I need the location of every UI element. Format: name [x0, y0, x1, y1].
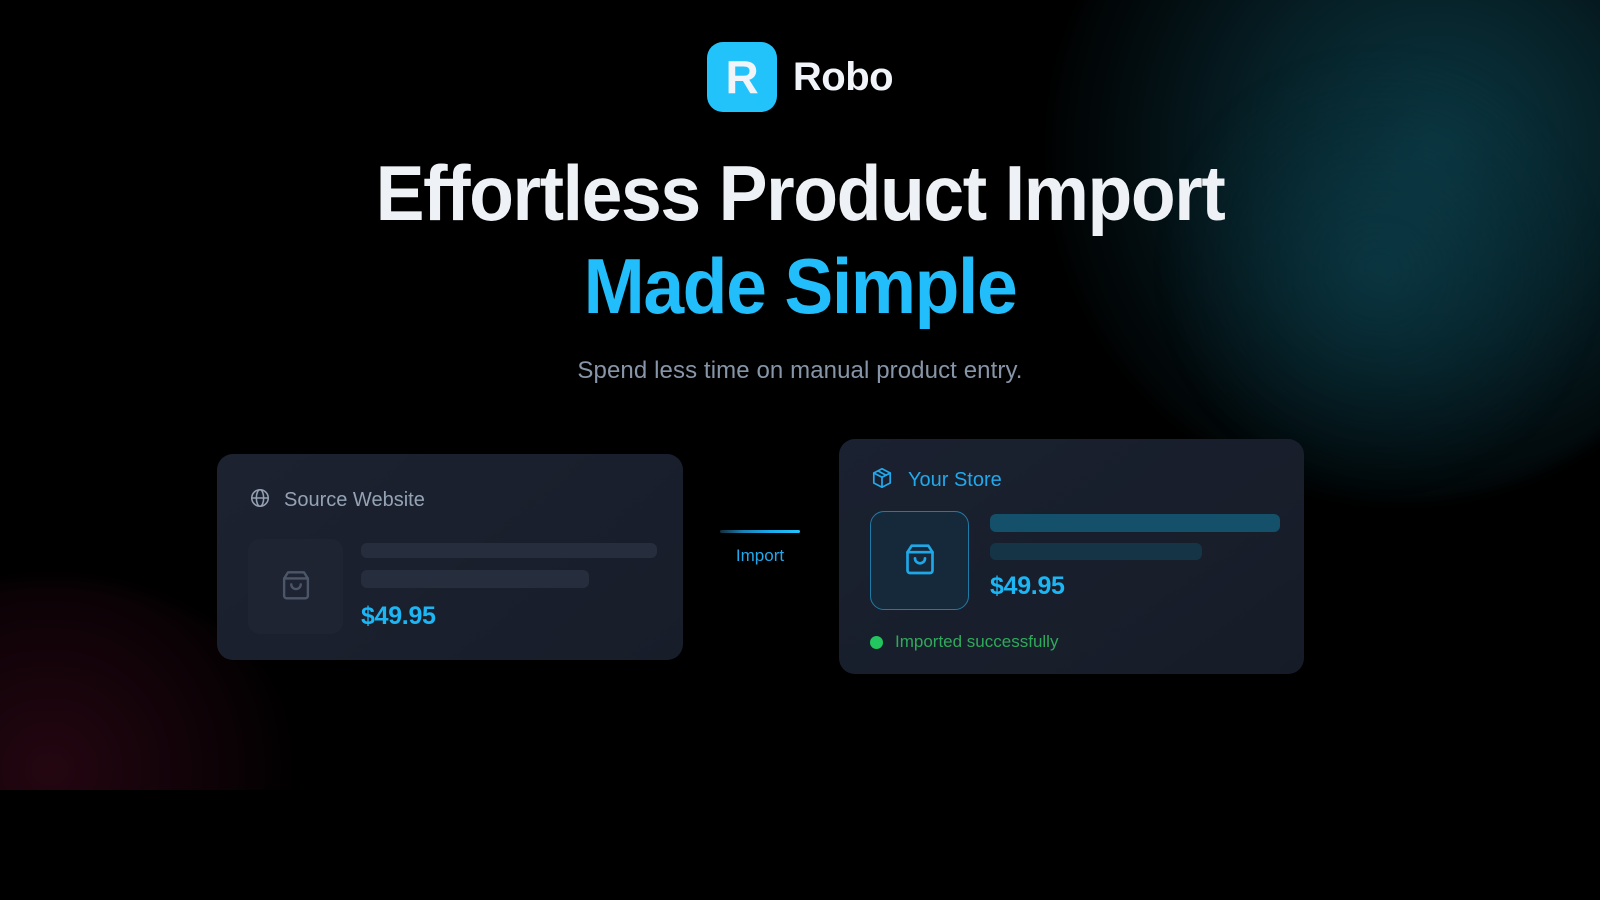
shopping-bag-icon: [277, 565, 315, 608]
source-card-header: Source Website: [249, 487, 425, 514]
headline-line-accent: Made Simple: [48, 245, 1552, 328]
import-connector-line: [720, 530, 800, 533]
hero-headline: Effortless Product Import Made Simple: [0, 152, 1600, 327]
store-skeleton-bar-title: [990, 514, 1280, 532]
source-card-title: Source Website: [284, 489, 425, 512]
globe-icon: [249, 487, 271, 514]
source-product-thumbnail: [248, 539, 343, 634]
brand-name: Robo: [793, 55, 893, 100]
source-skeleton-bar-subtitle: [361, 570, 589, 588]
store-card-header: Your Store: [870, 466, 1002, 495]
import-status-text: Imported successfully: [895, 632, 1058, 652]
source-card-body: $49.95: [248, 539, 657, 634]
hero-subtitle: Spend less time on manual product entry.: [0, 357, 1600, 385]
status-dot-icon: [870, 636, 883, 649]
store-product-price: $49.95: [990, 572, 1280, 601]
robo-logo-icon: R: [707, 42, 777, 112]
import-connector-label: Import: [700, 546, 820, 566]
brand-header: R Robo: [0, 42, 1600, 112]
import-demo: Source Website $49.95: [0, 430, 1600, 690]
import-connector: Import: [700, 530, 820, 566]
shopping-bag-icon: [900, 538, 940, 583]
brand-mark-letter: R: [726, 54, 759, 100]
background-bottom-mask: [0, 790, 1600, 900]
store-product-details: $49.95: [990, 511, 1280, 610]
headline-line-primary: Effortless Product Import: [48, 152, 1552, 235]
store-skeleton-bar-subtitle: [990, 543, 1202, 560]
source-product-price: $49.95: [361, 602, 657, 631]
store-card-title: Your Store: [908, 469, 1002, 492]
source-website-card: Source Website $49.95: [217, 454, 683, 660]
store-product-thumbnail: [870, 511, 969, 610]
landing-page: R Robo Effortless Product Import Made Si…: [0, 0, 1600, 900]
source-skeleton-bar-title: [361, 543, 657, 558]
import-status: Imported successfully: [870, 632, 1058, 652]
store-card-body: $49.95: [870, 511, 1280, 610]
package-box-icon: [870, 466, 894, 495]
your-store-card: Your Store $49.95: [839, 439, 1304, 674]
source-product-details: $49.95: [361, 539, 657, 634]
